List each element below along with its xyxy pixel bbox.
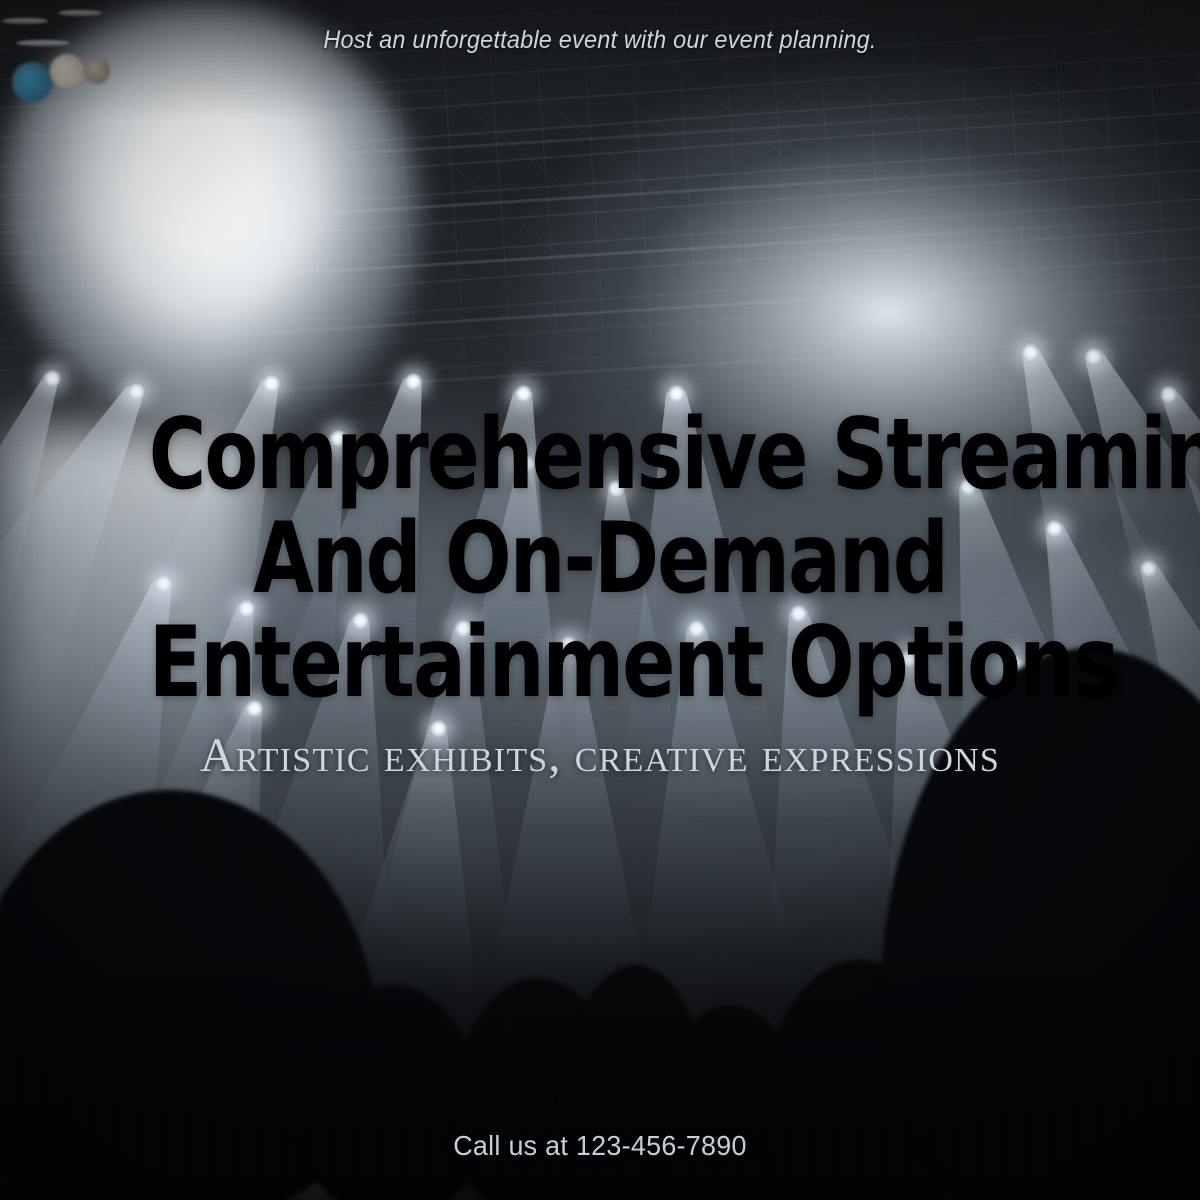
crowd-head-silhouette xyxy=(560,965,710,1200)
stage-light-fixture xyxy=(1085,348,1102,365)
light-beam xyxy=(1052,672,1200,992)
tagline-text: Host an unforgettable event with our eve… xyxy=(36,26,1164,55)
headline-line-1: Comprehensive Streaming xyxy=(149,404,1051,508)
stage-light-fixture xyxy=(1140,560,1157,577)
contact-phone-text: Call us at 123-456-7890 xyxy=(24,1130,1176,1162)
page-title: Comprehensive Streaming And On-Demand En… xyxy=(149,404,1051,716)
promo-banner-canvas: Host an unforgettable event with our eve… xyxy=(0,0,1200,1200)
subtitle-text: Artistic exhibits, creative expressions xyxy=(0,728,1200,783)
crowd-head-silhouette xyxy=(760,960,960,1200)
stage-light-fixture xyxy=(44,370,61,387)
stage-light-fixture xyxy=(1022,344,1039,361)
headline-line-3: Entertainment Options xyxy=(149,612,1051,716)
headline-line-2: And On-Demand xyxy=(149,508,1051,612)
crowd-head-silhouette xyxy=(655,1005,805,1200)
stage-light-fixture xyxy=(405,373,422,390)
lens-flare-icon xyxy=(0,935,131,1081)
